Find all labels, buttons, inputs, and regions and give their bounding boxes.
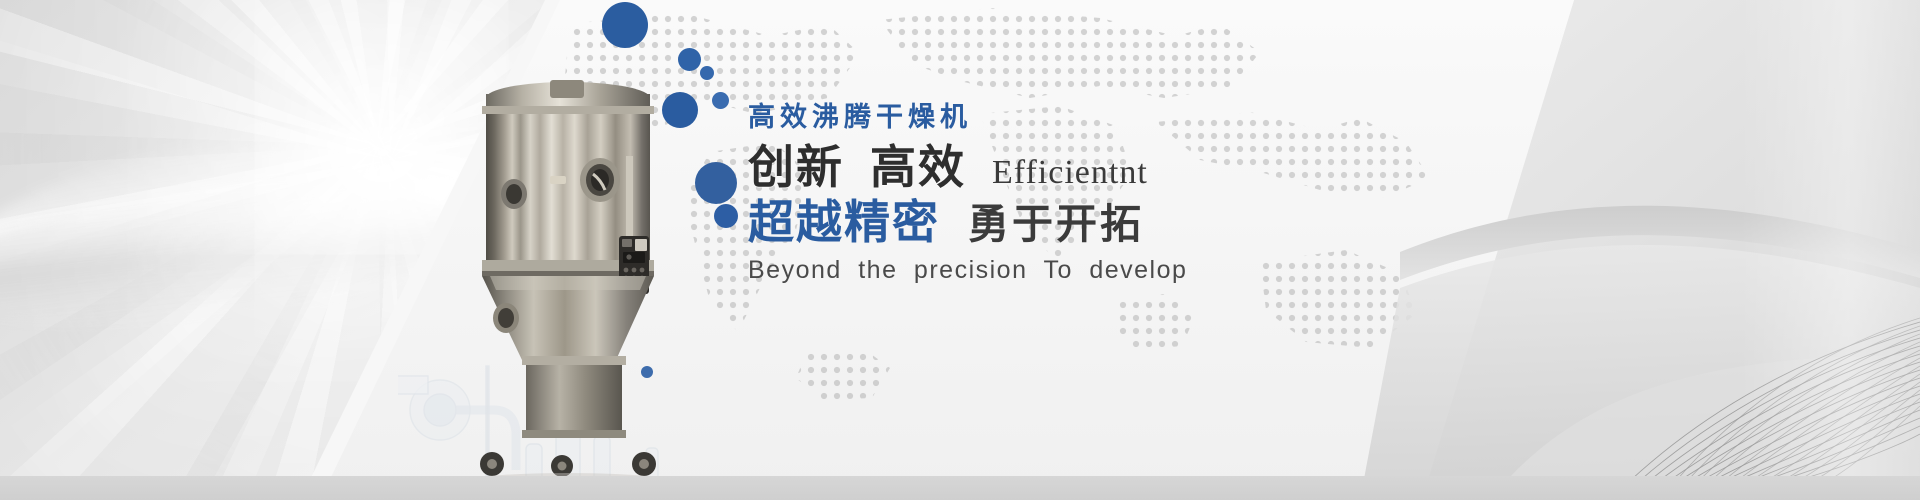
subhead-cn-1: 超越精密 [748,198,940,246]
tagline-en: Beyond the precision To develop [748,256,1428,285]
blue-circle-1 [602,2,648,48]
subhead-cn-2: 勇于开拓 [968,203,1144,246]
hero-banner: 高效沸腾干燥机 创新 高效 Efficientnt 超越精密 勇于开拓 Beyo… [0,0,1920,500]
kicker-text: 高效沸腾干燥机 [748,104,1428,131]
subheadline-row: 超越精密 勇于开拓 [748,198,1428,246]
banner-copy: 高效沸腾干燥机 创新 高效 Efficientnt 超越精密 勇于开拓 Beyo… [748,104,1428,285]
bottom-floor-strip [0,476,1920,500]
fluid-bed-dryer-photo [430,60,730,500]
right-edge-sheen [1740,0,1920,500]
headline-cn-1: 创新 [748,143,844,191]
headline-row: 创新 高效 Efficientnt [748,143,1428,192]
headline-cn-2: 高效 [870,143,966,191]
headline-en: Efficientnt [992,154,1148,192]
